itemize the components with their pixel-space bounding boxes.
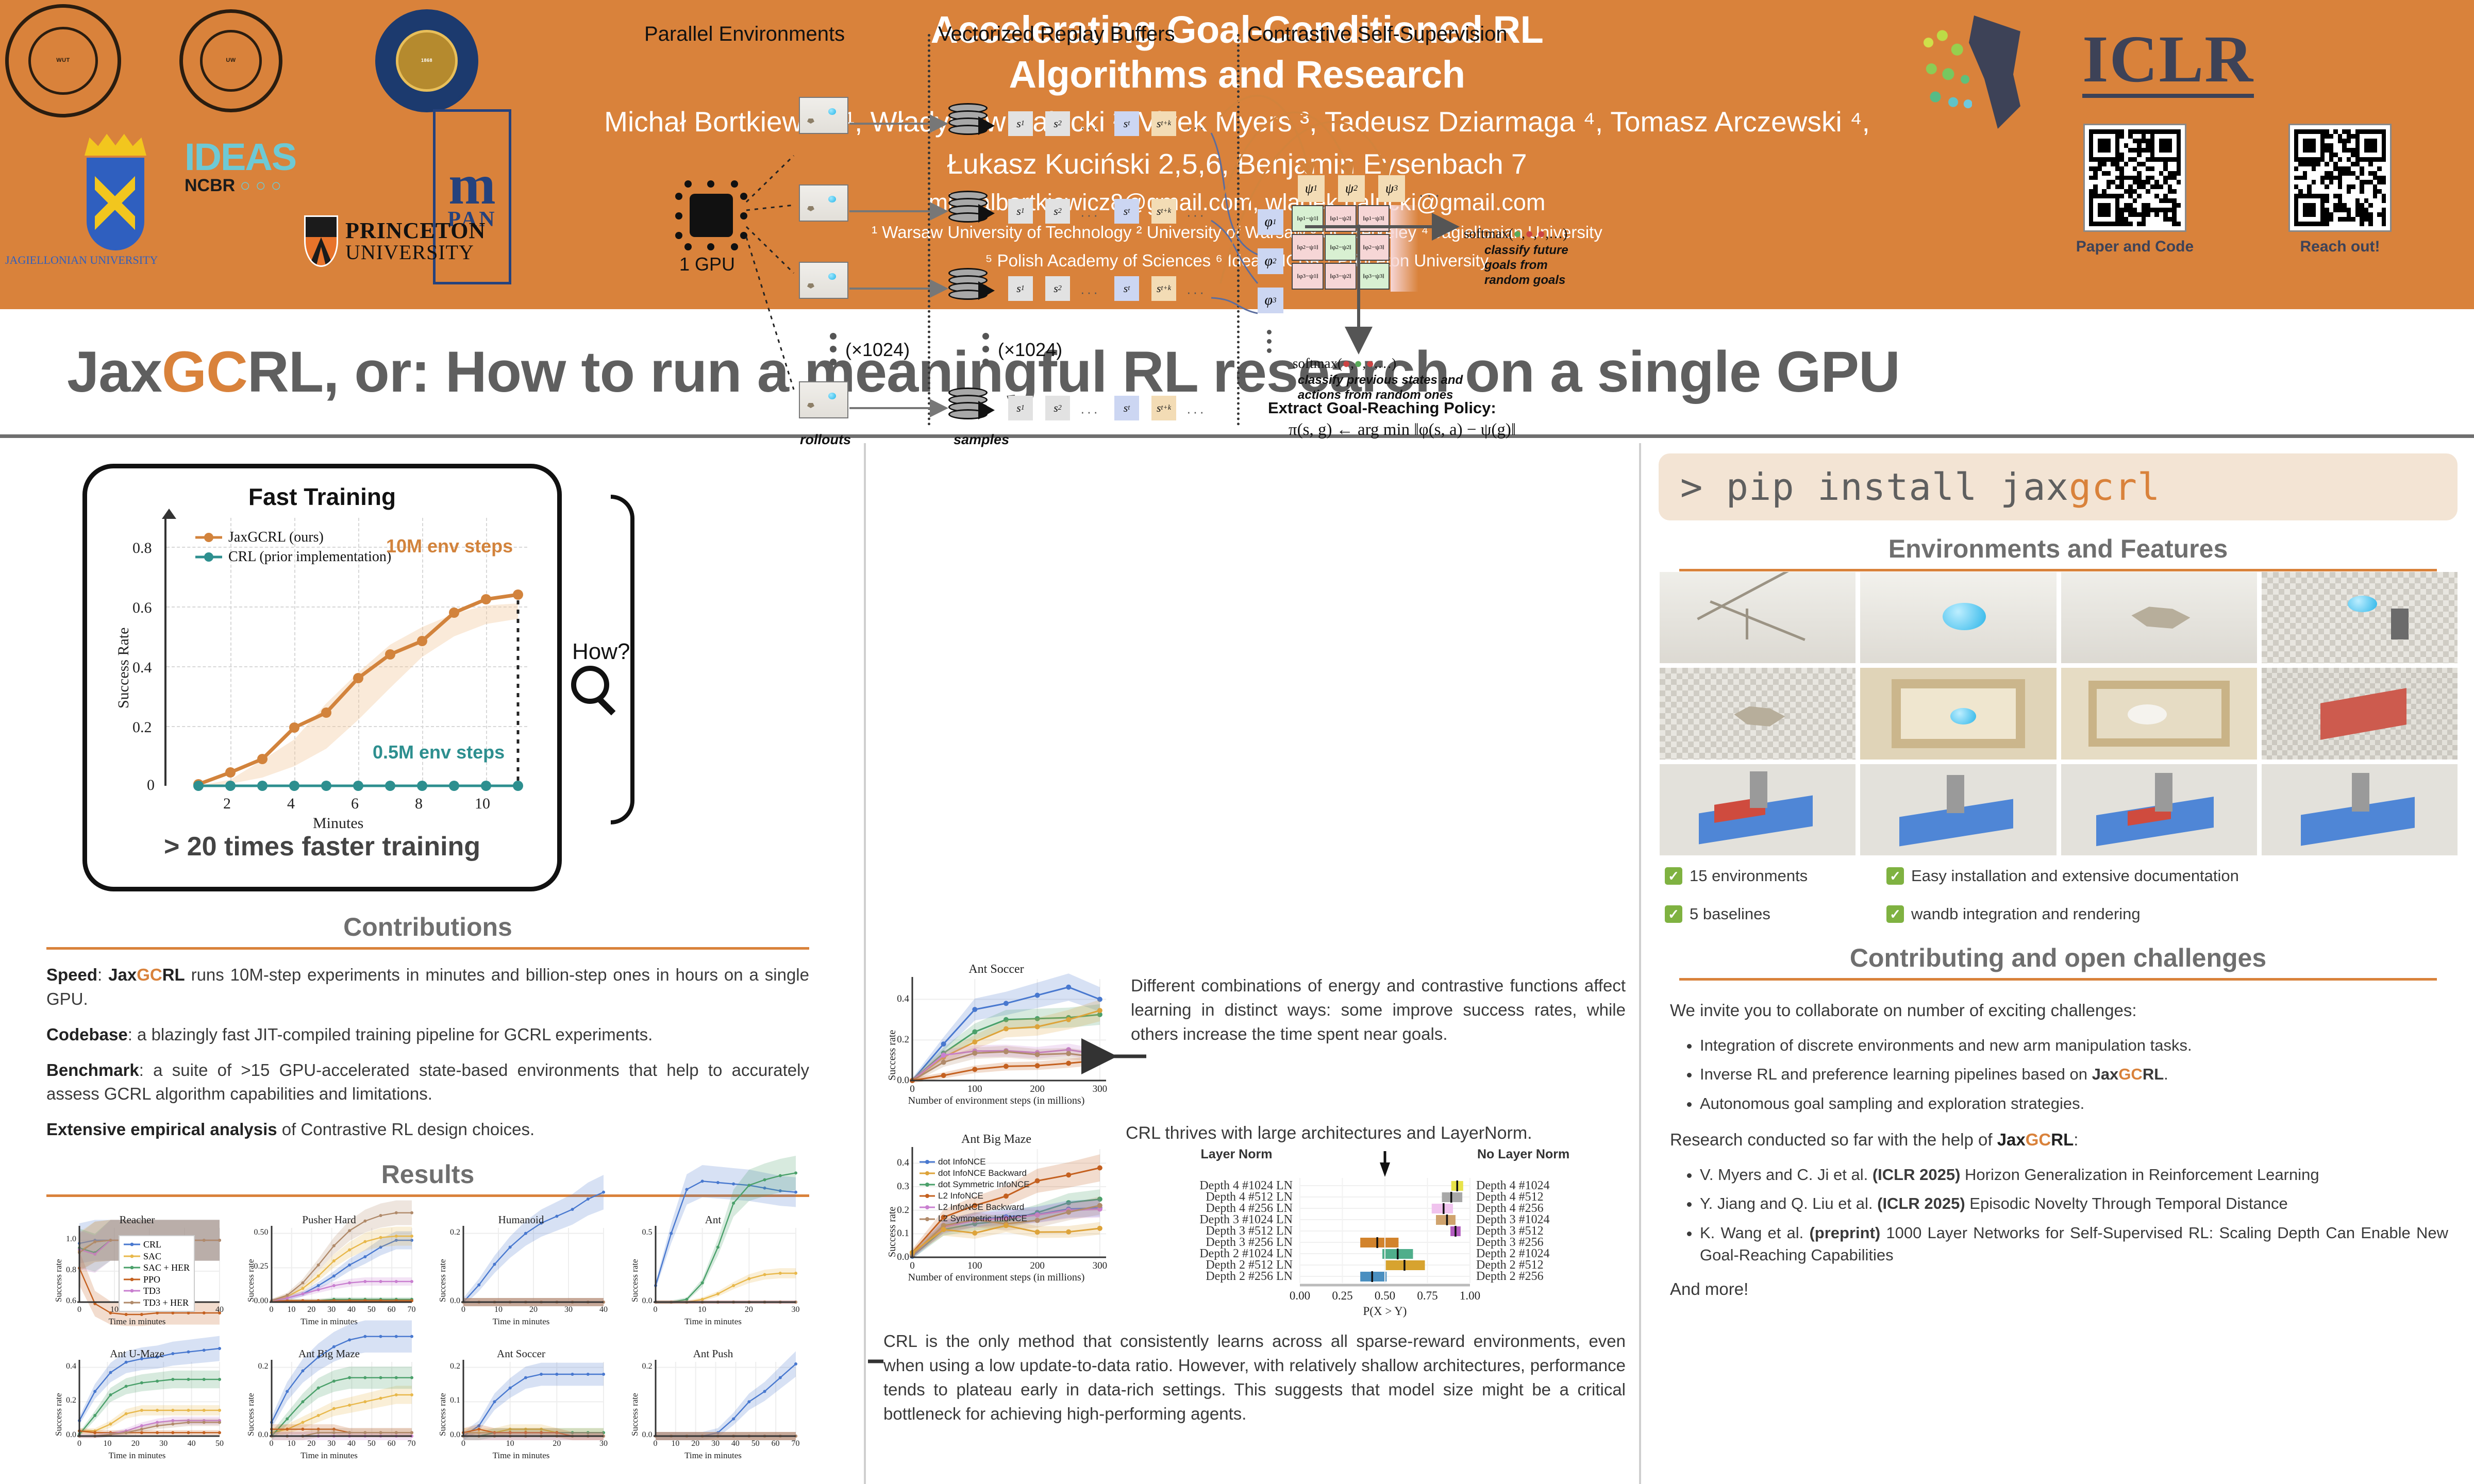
x-axis-label: P(X > Y) bbox=[1300, 1305, 1470, 1318]
x-tick: 100 bbox=[966, 1260, 983, 1272]
x-tick: 40 bbox=[183, 1439, 200, 1448]
x-tick: 40 bbox=[343, 1305, 360, 1314]
similarity-cell: ‖φ2−ψ1‖ bbox=[1292, 234, 1324, 261]
paper-item: V. Myers and C. Ji et al. (ICLR 2025) Ho… bbox=[1700, 1163, 2448, 1186]
x-tick: 0 bbox=[263, 1305, 280, 1314]
legend-entry: CRL bbox=[124, 1239, 190, 1251]
softmax-right-label: softmax(●,●,●,…) bbox=[1464, 226, 1567, 242]
paper-title: Episodic Novelty Through Temporal Distan… bbox=[1969, 1194, 2287, 1212]
y-tick: 0.4 bbox=[892, 1157, 909, 1169]
env-image-cell bbox=[2061, 764, 2257, 855]
x-tick: 0 bbox=[647, 1305, 664, 1314]
state-box: s1 bbox=[1008, 396, 1033, 420]
magnifier-icon bbox=[571, 666, 609, 704]
env-thumbnail bbox=[799, 97, 848, 134]
y-axis-label: Success rate bbox=[438, 1259, 448, 1302]
vertical-ellipsis bbox=[1267, 330, 1272, 353]
softmax-bottom-caption: classify previous states andactions from… bbox=[1298, 373, 1504, 403]
x-tick: 0 bbox=[904, 1260, 921, 1272]
result-chart-panel: Reacher0.60.81.0010203040Success rateTim… bbox=[46, 1213, 239, 1347]
paper-venue: (preprint) bbox=[1809, 1224, 1880, 1242]
x-tick: 0 bbox=[455, 1305, 472, 1314]
logo-princeton-university: PRINCETON UNIVERSITY bbox=[304, 215, 486, 267]
x-tick: 10 bbox=[667, 1439, 683, 1448]
y-axis-label: Success rate bbox=[54, 1393, 64, 1436]
paper-title: Horizon Generalization in Reinforcement … bbox=[1965, 1166, 2319, 1184]
ant-big-maze-chart: Ant Big Maze0.00.10.20.30.40100200300Suc… bbox=[880, 1134, 1117, 1304]
legend-entry: dot Symmetric InfoNCE bbox=[920, 1179, 1030, 1190]
multiplier-label-envs: (×1024) bbox=[845, 339, 910, 361]
y-tick: 0.5 bbox=[635, 1228, 653, 1237]
middle-column: Ant Soccer0.00.20.40100200300Success rat… bbox=[868, 443, 1641, 1484]
gpu-label: 1 GPU bbox=[679, 254, 735, 275]
state-box: s2 bbox=[1045, 111, 1070, 136]
paper-item: Y. Jiang and Q. Liu et al. (ICLR 2025) E… bbox=[1700, 1192, 2448, 1215]
legend-entry: L2 InfoNCE bbox=[920, 1190, 1030, 1202]
x-tick: 20 bbox=[525, 1305, 542, 1314]
how-label: How? bbox=[572, 639, 630, 665]
state-box: st bbox=[1114, 396, 1139, 420]
similarity-cell: ‖φ1−ψ1‖ bbox=[1292, 205, 1324, 232]
env-image-cell bbox=[1860, 572, 2056, 663]
challenge-item: Integration of discrete environments and… bbox=[1700, 1034, 2448, 1056]
state-box: s2 bbox=[1045, 199, 1070, 224]
x-tick: 10 bbox=[99, 1439, 115, 1448]
x-tick: 60 bbox=[383, 1305, 400, 1314]
y-tick: 0.2 bbox=[635, 1362, 653, 1371]
checkmark-icon: ✓ bbox=[1665, 905, 1682, 923]
policy-formula: π(s, g) ← arg min ‖φ(s, a) − ψ(g)‖ bbox=[1289, 420, 1516, 440]
y-tick: 0.2 bbox=[443, 1362, 460, 1371]
paper-authors: Y. Jiang and Q. Liu et al. bbox=[1700, 1194, 1873, 1212]
contribution-label: Speed bbox=[46, 965, 97, 984]
x-tick: 40 bbox=[595, 1305, 612, 1314]
horizontal-ellipsis: ··· bbox=[1418, 185, 1443, 205]
rollouts-label: rollouts bbox=[800, 432, 851, 448]
similarity-cell: ‖φ3−ψ2‖ bbox=[1325, 263, 1357, 290]
similarity-cell: ‖φ2−ψ3‖ bbox=[1358, 234, 1390, 261]
arch-col3-title: Contrastive Self-Supervision bbox=[1247, 23, 1508, 46]
pip-highlight: gcrl bbox=[2069, 465, 2160, 509]
architecture-diagram: Parallel Environments Vectorized Replay … bbox=[639, 21, 1649, 448]
chart-title: Ant Soccer bbox=[880, 963, 1112, 976]
y-axis-label: Success rate bbox=[630, 1393, 640, 1436]
x-tick: 10 bbox=[283, 1439, 299, 1448]
legend-entry: L2 Symmetric InfoNCE bbox=[920, 1213, 1030, 1224]
x-tick: 10 bbox=[694, 1305, 710, 1314]
state-box: s1 bbox=[1008, 276, 1033, 301]
contribution-text: : a blazingly fast JIT-compiled training… bbox=[128, 1025, 653, 1044]
challenge-item: Inverse RL and preference learning pipel… bbox=[1700, 1063, 2448, 1085]
x-tick: 0 bbox=[904, 1084, 921, 1095]
env-thumbnail bbox=[799, 184, 848, 222]
qr-code-reach-out[interactable] bbox=[2288, 124, 2392, 232]
y-tick: 0.4 bbox=[59, 1362, 76, 1371]
x-tick: 30 bbox=[560, 1305, 577, 1314]
env-image-cell bbox=[2262, 572, 2458, 663]
vertical-ellipsis bbox=[982, 333, 989, 365]
depth-comparison-chart: Layer NormNo Layer NormDepth 4 #1024 LND… bbox=[1126, 1147, 1636, 1307]
env-image-cell bbox=[2061, 668, 2257, 759]
y-tick: 0.4 bbox=[892, 993, 909, 1005]
chart-title: Reacher bbox=[49, 1213, 225, 1226]
paper-authors: K. Wang et al. bbox=[1700, 1224, 1803, 1242]
paper-authors: V. Myers and C. Ji et al. bbox=[1700, 1166, 1868, 1184]
x-tick: 0.00 bbox=[1282, 1289, 1317, 1303]
env-image-cell bbox=[1860, 668, 2056, 759]
policy-heading: Extract Goal-Reaching Policy: bbox=[1268, 399, 1496, 417]
x-axis-label: Time in minutes bbox=[433, 1451, 609, 1461]
left-column: Fast Training 0.8 0.6 0.4 0.2 0 Success … bbox=[0, 443, 866, 1484]
x-tick: 50 bbox=[363, 1439, 380, 1448]
chart-title: Ant Big Maze bbox=[242, 1347, 417, 1360]
feature-item: ✓ 5 baselines bbox=[1665, 905, 1886, 923]
x-axis-label: Number of environment steps (in millions… bbox=[880, 1095, 1112, 1107]
arch-divider-1 bbox=[928, 34, 930, 426]
similarity-cell: ‖φ3−ψ1‖ bbox=[1292, 263, 1324, 290]
x-tick: 30 bbox=[323, 1305, 340, 1314]
depth-row-label-right: Depth 2 #256 bbox=[1476, 1270, 1544, 1284]
x-tick: 0 bbox=[71, 1305, 88, 1314]
x-tick: 70 bbox=[404, 1305, 420, 1314]
x-tick: 40 bbox=[343, 1439, 360, 1448]
multiplier-label-buffers: (×1024) bbox=[998, 339, 1062, 361]
env-image-cell bbox=[2262, 668, 2458, 759]
phi-box: φ1 bbox=[1258, 209, 1283, 235]
x-axis-label: Time in minutes bbox=[49, 1451, 225, 1461]
x-tick: 30 bbox=[155, 1439, 172, 1448]
horizontal-ellipsis: ··· bbox=[1186, 404, 1206, 420]
research-intro: Research conducted so far with the help … bbox=[1670, 1128, 2448, 1152]
results-legend: CRLSACSAC + HERPPOTD3TD3 + HER bbox=[119, 1235, 195, 1312]
depth-row-label-left: Depth 2 #256 LN bbox=[1126, 1270, 1293, 1284]
x-tick: 0 bbox=[71, 1439, 88, 1448]
x-tick: 20 bbox=[548, 1439, 565, 1448]
paper-venue: (ICLR 2025) bbox=[1877, 1194, 1965, 1212]
result-chart-panel: Ant U-Maze0.00.20.401020304050Success ra… bbox=[46, 1347, 239, 1481]
contribution-item: Extensive empirical analysis of Contrast… bbox=[46, 1118, 809, 1142]
replay-buffer-icon bbox=[948, 268, 993, 307]
legend-jaxgcrl: JaxGCRL (ours) bbox=[228, 529, 324, 546]
env-thumbnail bbox=[799, 381, 848, 418]
x-tick: 10 bbox=[490, 1305, 507, 1314]
right-column: > pip install jaxgcrl Environments and F… bbox=[1643, 443, 2474, 1484]
y-axis-label: Success rate bbox=[630, 1259, 640, 1302]
state-box: st+k bbox=[1151, 111, 1176, 136]
x-tick: 30 bbox=[595, 1439, 612, 1448]
annotation-05m-env-steps: 0.5M env steps bbox=[373, 741, 505, 763]
softmax-bottom-label: softmax(●,●,●,…) bbox=[1293, 356, 1396, 372]
logo-universitas-varsoviensis: UW bbox=[179, 9, 282, 112]
qr-caption-reach-out: Reach out! bbox=[2278, 238, 2402, 256]
x-tick: 300 bbox=[1092, 1084, 1108, 1095]
logo-warsaw-university-of-technology: WUT bbox=[5, 4, 121, 117]
x-tick: 0.75 bbox=[1410, 1289, 1445, 1303]
contribution-label: Benchmark bbox=[46, 1060, 139, 1080]
contribution-label: Codebase bbox=[46, 1025, 128, 1044]
legend-entry: dot InfoNCE bbox=[920, 1156, 1030, 1168]
legend-entry: SAC + HER bbox=[124, 1262, 190, 1274]
x-axis-label: Time in minutes bbox=[242, 1451, 417, 1461]
environments-heading: Environments and Features bbox=[1679, 534, 2437, 571]
y-axis-label: Success rate bbox=[246, 1259, 256, 1302]
x-tick: 0 bbox=[263, 1439, 280, 1448]
contribution-text: of Contrastive RL design choices. bbox=[277, 1120, 535, 1139]
x-axis-label: Time in minutes bbox=[433, 1317, 609, 1327]
horizontal-ellipsis: ··· bbox=[1080, 207, 1100, 223]
matrix-fade bbox=[1391, 205, 1418, 292]
x-axis-label: Time in minutes bbox=[626, 1317, 801, 1327]
ant-soccer-chart: Ant Soccer0.00.20.40100200300Success rat… bbox=[880, 964, 1117, 1118]
similarity-cell: ‖φ1−ψ3‖ bbox=[1358, 205, 1390, 232]
fast-training-card: Fast Training 0.8 0.6 0.4 0.2 0 Success … bbox=[82, 464, 562, 891]
chart-title: Pusher Hard bbox=[242, 1213, 417, 1226]
results-chart-grid: Reacher0.60.81.0010203040Success rateTim… bbox=[46, 1213, 814, 1481]
checkmark-icon: ✓ bbox=[1886, 867, 1904, 885]
checkmark-icon: ✓ bbox=[1886, 905, 1904, 923]
state-box: st+k bbox=[1151, 199, 1176, 224]
contribution-item: Benchmark: a suite of >15 GPU-accelerate… bbox=[46, 1058, 809, 1107]
horizontal-ellipsis: ··· bbox=[1186, 207, 1206, 223]
gpu-chip-icon bbox=[680, 184, 742, 246]
legend-entry: TD3 bbox=[124, 1285, 190, 1297]
env-image-cell bbox=[1660, 668, 1855, 759]
x-tick: 50 bbox=[211, 1439, 228, 1448]
paper-venue: (ICLR 2025) bbox=[1873, 1166, 1961, 1184]
x-tick: 40 bbox=[211, 1305, 228, 1314]
contribution-text: : JaxGCRL runs 10M-step experiments in m… bbox=[46, 965, 809, 1008]
env-image-cell bbox=[1860, 764, 2056, 855]
state-box: st bbox=[1114, 199, 1139, 224]
legend-entry: dot InfoNCE Backward bbox=[920, 1168, 1030, 1179]
state-box: st bbox=[1114, 111, 1139, 136]
feature-item: ✓ 15 environments bbox=[1665, 867, 1886, 885]
y-axis-label: Success rate bbox=[887, 1207, 898, 1257]
pip-prefix: > pip install jax bbox=[1680, 465, 2069, 509]
fast-training-chart: 0.8 0.6 0.4 0.2 0 Success Rate 2 4 6 8 1… bbox=[164, 518, 546, 806]
x-tick: 60 bbox=[383, 1439, 400, 1448]
result-chart-panel: Ant Big Maze0.00.2010203040506070Success… bbox=[239, 1347, 431, 1481]
env-image-cell bbox=[1660, 764, 1855, 855]
env-thumbnail bbox=[799, 262, 848, 299]
logo-uc-berkeley: 1868 bbox=[375, 9, 478, 112]
y-tick: 1.0 bbox=[59, 1235, 76, 1244]
legend-crl: CRL (prior implementation) bbox=[228, 549, 391, 565]
x-tick: 20 bbox=[687, 1439, 704, 1448]
y-axis-label: Success rate bbox=[438, 1393, 448, 1436]
x-tick: 200 bbox=[1029, 1260, 1046, 1272]
crl-thrives-heading: CRL thrives with large architectures and… bbox=[1126, 1123, 1636, 1143]
x-tick: 30 bbox=[707, 1439, 724, 1448]
x-tick: 50 bbox=[747, 1439, 764, 1448]
legend-entry: TD3 + HER bbox=[124, 1297, 190, 1309]
arch-col1-title: Parallel Environments bbox=[644, 23, 845, 46]
state-box: s2 bbox=[1045, 276, 1070, 301]
challenges-list: Integration of discrete environments and… bbox=[1700, 1034, 2448, 1115]
similarity-cell: ‖φ2−ψ2‖ bbox=[1325, 234, 1357, 261]
feature-label: Easy installation and extensive document… bbox=[1911, 867, 2239, 885]
contribution-item: Speed: JaxGCRL runs 10M-step experiments… bbox=[46, 963, 809, 1011]
state-box: st+k bbox=[1151, 396, 1176, 420]
x-tick: 50 bbox=[363, 1305, 380, 1314]
ant-big-maze-legend: dot InfoNCEdot InfoNCE Backwarddot Symme… bbox=[920, 1156, 1030, 1225]
chart-title: Ant Soccer bbox=[433, 1347, 609, 1360]
y-tick: 0.3 bbox=[892, 1181, 909, 1192]
collaborate-invite: We invite you to collaborate on number o… bbox=[1670, 999, 2448, 1023]
and-more-label: And more! bbox=[1670, 1277, 2448, 1302]
chart-title: Ant Big Maze bbox=[880, 1133, 1112, 1146]
x-axis-label: Number of environment steps (in millions… bbox=[880, 1272, 1112, 1284]
psi-box: ψ3 bbox=[1378, 175, 1405, 202]
x-tick: 20 bbox=[741, 1305, 757, 1314]
x-tick: 70 bbox=[788, 1439, 804, 1448]
papers-list: V. Myers and C. Ji et al. (ICLR 2025) Ho… bbox=[1700, 1163, 2448, 1267]
contributing-heading: Contributing and open challenges bbox=[1679, 943, 2437, 981]
x-tick: 30 bbox=[788, 1305, 804, 1314]
x-tick: 60 bbox=[767, 1439, 784, 1448]
x-tick: 20 bbox=[127, 1439, 144, 1448]
feature-label: 5 baselines bbox=[1690, 905, 1770, 923]
y-tick: 0.2 bbox=[251, 1362, 269, 1371]
x-tick: 40 bbox=[727, 1439, 744, 1448]
x-tick: 1.00 bbox=[1452, 1289, 1487, 1303]
result-chart-panel: Humanoid0.00.2010203040Success rateTime … bbox=[430, 1213, 623, 1347]
state-box: s1 bbox=[1008, 199, 1033, 224]
y-axis-label: Success rate bbox=[54, 1259, 64, 1302]
y-axis-label: Success rate bbox=[887, 1030, 898, 1081]
x-tick: 0 bbox=[455, 1439, 472, 1448]
feature-label: wandb integration and rendering bbox=[1911, 905, 2141, 923]
chart-title: Ant Push bbox=[626, 1347, 801, 1360]
x-tick: 30 bbox=[323, 1439, 340, 1448]
chart-title: Ant bbox=[626, 1213, 801, 1226]
x-tick: 20 bbox=[303, 1305, 320, 1314]
logo-jagiellonian-university: JAGIELLONIAN UNIVERSITY bbox=[72, 133, 158, 267]
horizontal-ellipsis: ··· bbox=[1186, 120, 1206, 136]
iclr-wordmark: ICLR bbox=[2082, 26, 2254, 98]
state-box: s2 bbox=[1045, 396, 1070, 420]
vertical-ellipsis bbox=[830, 333, 837, 365]
legend-entry: PPO bbox=[124, 1274, 190, 1286]
similarity-cell: ‖φ3−ψ3‖ bbox=[1358, 263, 1390, 290]
y-axis-label: Success rate bbox=[246, 1393, 256, 1436]
environment-thumbnails bbox=[1660, 572, 2458, 855]
pip-install-command[interactable]: > pip install jaxgcrl bbox=[1659, 453, 2458, 520]
middle-paragraph-3: CRL is the only method that consistently… bbox=[883, 1329, 1626, 1426]
horizontal-ellipsis: ··· bbox=[1186, 284, 1206, 300]
psi-box: ψ2 bbox=[1338, 175, 1365, 202]
horizontal-ellipsis: ··· bbox=[1080, 120, 1100, 136]
x-tick: 20 bbox=[303, 1439, 320, 1448]
replay-buffer-icon bbox=[948, 387, 993, 427]
y-tick: 0.2 bbox=[443, 1228, 460, 1237]
result-chart-panel: Ant0.00.50102030Success rateTime in minu… bbox=[623, 1213, 815, 1347]
result-chart-panel: Ant Push0.00.2010203040506070Success rat… bbox=[623, 1347, 815, 1481]
similarity-cell: ‖φ1−ψ2‖ bbox=[1325, 205, 1357, 232]
feature-item: ✓ Easy installation and extensive docume… bbox=[1886, 867, 2453, 885]
contributions-heading: Contributions bbox=[46, 912, 809, 950]
x-tick: 0.50 bbox=[1367, 1289, 1402, 1303]
challenge-item: Autonomous goal sampling and exploration… bbox=[1700, 1092, 2448, 1115]
psi-box: ψ1 bbox=[1298, 175, 1325, 202]
env-image-cell bbox=[2061, 572, 2257, 663]
x-tick: 100 bbox=[966, 1084, 983, 1095]
state-box: s1 bbox=[1008, 111, 1033, 136]
x-tick: 0.25 bbox=[1325, 1289, 1360, 1303]
contribution-item: Codebase: a blazingly fast JIT-compiled … bbox=[46, 1023, 809, 1047]
softmax-right-caption: classify futuregoals fromrandom goals bbox=[1484, 243, 1624, 288]
logo-ideas-ncbr: IDEAS NCBR ○ ○ ○ bbox=[185, 140, 296, 196]
feature-item: ✓ wandb integration and rendering bbox=[1886, 905, 2453, 923]
iclr-branding: ICLR Paper and Code Reach out! bbox=[1917, 5, 2464, 304]
env-image-cell bbox=[1660, 572, 1855, 663]
state-box: st+k bbox=[1151, 276, 1176, 301]
feature-label: 15 environments bbox=[1690, 867, 1808, 885]
title-prefix: Jax bbox=[67, 340, 162, 404]
checkmark-icon: ✓ bbox=[1665, 867, 1682, 885]
contribution-label: Extensive empirical analysis bbox=[46, 1120, 277, 1139]
chart-title: Ant U-Maze bbox=[49, 1347, 225, 1360]
qr-caption-paper-and-code: Paper and Code bbox=[2073, 238, 2197, 256]
replay-buffer-icon bbox=[948, 191, 993, 230]
phi-box: φ2 bbox=[1258, 248, 1283, 274]
phi-box: φ3 bbox=[1258, 288, 1283, 313]
horizontal-ellipsis: ··· bbox=[1080, 404, 1100, 420]
env-image-cell bbox=[2262, 764, 2458, 855]
arch-divider-2 bbox=[1237, 34, 1240, 426]
result-chart-panel: Ant Soccer0.00.10.20102030Success rateTi… bbox=[430, 1347, 623, 1481]
x-tick: 300 bbox=[1092, 1260, 1108, 1272]
fast-training-footer: > 20 times faster training bbox=[87, 831, 557, 862]
x-tick: 10 bbox=[502, 1439, 519, 1448]
chart-title: Humanoid bbox=[433, 1213, 609, 1226]
x-tick: 70 bbox=[404, 1439, 420, 1448]
arch-col2-title: Vectorized Replay Buffers bbox=[938, 23, 1175, 46]
horizontal-ellipsis: ··· bbox=[1080, 284, 1100, 300]
x-tick: 200 bbox=[1029, 1084, 1046, 1095]
title-highlight: GC bbox=[162, 340, 247, 404]
middle-paragraph-1: Different combinations of energy and con… bbox=[1131, 974, 1626, 1047]
fast-training-title: Fast Training bbox=[87, 483, 557, 511]
iclr-mark-icon bbox=[1923, 15, 2067, 129]
x-tick: 0 bbox=[647, 1439, 664, 1448]
annotation-10m-env-steps: 10M env steps bbox=[386, 535, 513, 557]
x-axis-label: Time in minutes bbox=[49, 1317, 225, 1327]
contributions-list: Speed: JaxGCRL runs 10M-step experiments… bbox=[46, 963, 809, 1142]
x-axis-label: Time in minutes bbox=[626, 1451, 801, 1461]
replay-buffer-icon bbox=[948, 103, 993, 142]
legend-entry: L2 InfoNCE Backward bbox=[920, 1202, 1030, 1213]
paper-item: K. Wang et al. (preprint) 1000 Layer Net… bbox=[1700, 1222, 2448, 1267]
y-tick: 0.50 bbox=[251, 1228, 269, 1237]
state-box: st bbox=[1114, 276, 1139, 301]
qr-code-paper-and-code[interactable] bbox=[2083, 124, 2186, 232]
contribution-text: : a suite of >15 GPU-accelerated state-b… bbox=[46, 1060, 809, 1104]
x-tick: 10 bbox=[283, 1305, 299, 1314]
legend-entry: SAC bbox=[124, 1251, 190, 1262]
